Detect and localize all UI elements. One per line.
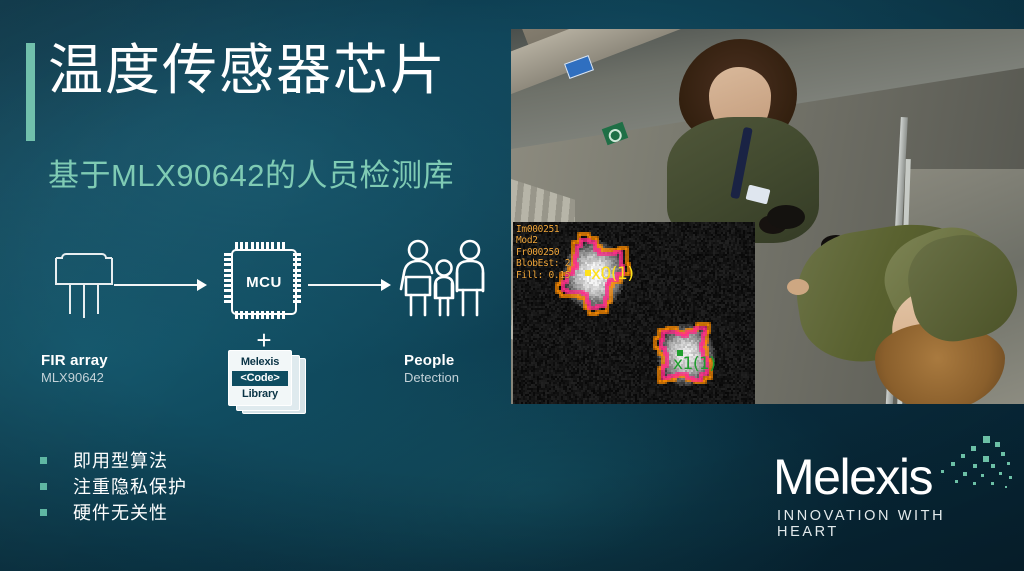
bullet-square-icon (40, 483, 47, 490)
hud-line: Mod2 (516, 235, 570, 246)
library-line-3: Library (232, 387, 288, 402)
mcu-chip-icon: MCU (222, 240, 306, 326)
fir-caption: FIR array MLX90642 (41, 352, 108, 385)
blob-label-1: x1(1) (673, 354, 715, 374)
library-line-2: <Code> (232, 371, 288, 386)
mcu-chip-body: MCU (231, 249, 297, 315)
bullet-label: 硬件无关性 (73, 499, 168, 525)
list-item: 注重隐私保护 (40, 473, 187, 499)
logo-dot-pattern-icon (921, 436, 1013, 494)
melexis-logo: Melexis INNOVATION WITH HEART (773, 452, 993, 528)
bullet-label: 注重隐私保护 (73, 473, 187, 499)
people-caption-sub: Detection (404, 370, 459, 385)
people-caption: People Detection (404, 352, 459, 385)
list-item: 硬件无关性 (40, 499, 187, 525)
logo-tagline: INNOVATION WITH HEART (777, 508, 993, 540)
library-line-1: Melexis (232, 355, 288, 370)
hud-line: Im000251 (516, 224, 570, 235)
hud-line: Fill: 0.15 (516, 270, 570, 281)
title-accent-bar (26, 43, 35, 141)
thermal-hud-text: Im000251 Mod2 Fr000250 BlobEst: 2 Fill: … (516, 224, 570, 281)
person-standing (661, 39, 841, 249)
person-mirror-reflection (910, 235, 1020, 385)
mcu-chip-label: MCU (246, 274, 282, 291)
people-family-icon (398, 238, 490, 326)
fir-caption-title: FIR array (41, 352, 108, 369)
hud-line: Fr000250 (516, 247, 570, 258)
bullet-square-icon (40, 457, 47, 464)
page-title: 温度传感器芯片 (48, 42, 447, 100)
code-library-stack: Melexis <Code> Library (228, 350, 304, 412)
arrow-mcu-to-people (308, 279, 392, 291)
blob-label-0: x0(1) (591, 264, 633, 284)
thermal-overlay: Im000251 Mod2 Fr000250 BlobEst: 2 Fill: … (513, 222, 755, 404)
elevator-photo: Im000251 Mod2 Fr000250 BlobEst: 2 Fill: … (511, 29, 1024, 404)
slide-root: 温度传感器芯片 基于MLX90642的人员检测库 MCU + (0, 0, 1024, 571)
list-item: 即用型算法 (40, 447, 187, 473)
pipeline-diagram: MCU + Melexis <Code> Library (0, 232, 500, 402)
people-caption-title: People (404, 352, 459, 369)
bullet-label: 即用型算法 (73, 447, 168, 473)
bullet-list: 即用型算法 注重隐私保护 硬件无关性 (40, 447, 187, 525)
bullet-square-icon (40, 509, 47, 516)
photo-scene: Im000251 Mod2 Fr000250 BlobEst: 2 Fill: … (511, 29, 1024, 404)
hud-line: BlobEst: 2 (516, 258, 570, 269)
arrow-fir-to-mcu (114, 279, 208, 291)
page-subtitle: 基于MLX90642的人员检测库 (48, 150, 454, 195)
fir-caption-sub: MLX90642 (41, 370, 108, 385)
logo-wordmark: Melexis (773, 452, 932, 502)
